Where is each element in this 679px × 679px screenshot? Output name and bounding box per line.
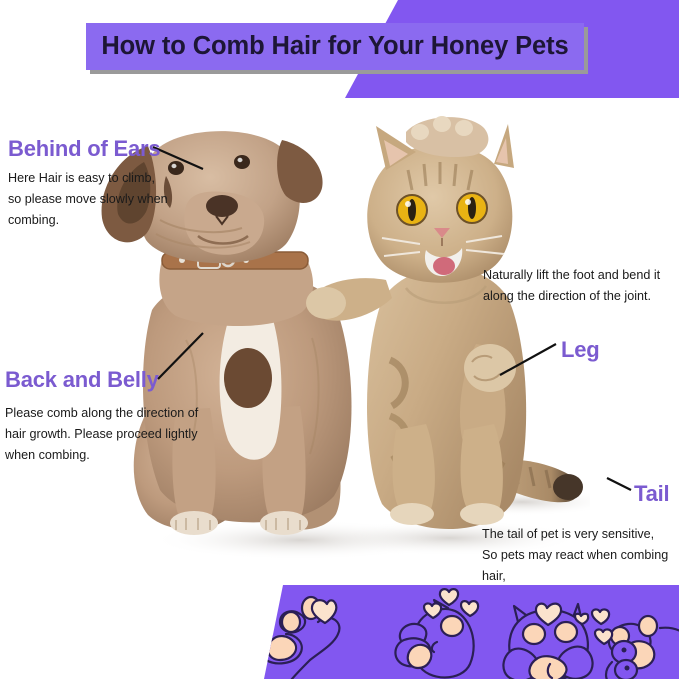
cat-illustration — [306, 116, 583, 529]
callout-text-line: along the direction of the joint. — [483, 286, 673, 307]
title-bar: How to Comb Hair for Your Honey Pets — [86, 23, 584, 70]
pointer-line-tail — [607, 478, 631, 490]
callout-label-tail: Tail — [634, 481, 669, 507]
callout-text-line: so please move slowly when — [8, 189, 208, 210]
callout-label-leg: Leg — [561, 337, 600, 363]
callout-text-line: Here Hair is easy to climb, — [8, 168, 208, 189]
callout-label-back-and-belly: Back and Belly — [5, 367, 159, 393]
callout-text-line: Naturally lift the foot and bend it — [483, 265, 673, 286]
callout-text-behind-of-ears: Here Hair is easy to climb, so please mo… — [8, 168, 208, 231]
callout-text-leg: Naturally lift the foot and bend it alon… — [483, 265, 673, 307]
page-title: How to Comb Hair for Your Honey Pets — [101, 32, 568, 61]
callout-text-back-and-belly: Please comb along the direction of hair … — [5, 403, 200, 466]
callout-text-line: hair growth. Please proceed lightly — [5, 424, 200, 445]
callout-text-line: when combing. — [5, 445, 200, 466]
callout-text-line: Please comb along the direction of — [5, 403, 200, 424]
cartoon-paw-heart-icon — [259, 597, 339, 679]
callout-label-behind-of-ears: Behind of Ears — [8, 136, 160, 162]
header: How to Comb Hair for Your Honey Pets — [0, 0, 679, 105]
callout-text-line: The tail of pet is very sensitive, — [482, 524, 679, 545]
infographic-poster: How to Comb Hair for Your Honey Pets — [0, 0, 679, 679]
callout-text-line: combing. — [8, 210, 208, 231]
footer-cartoon-figures — [0, 578, 679, 679]
cartoon-cat-profile-paw-icon — [395, 589, 478, 677]
